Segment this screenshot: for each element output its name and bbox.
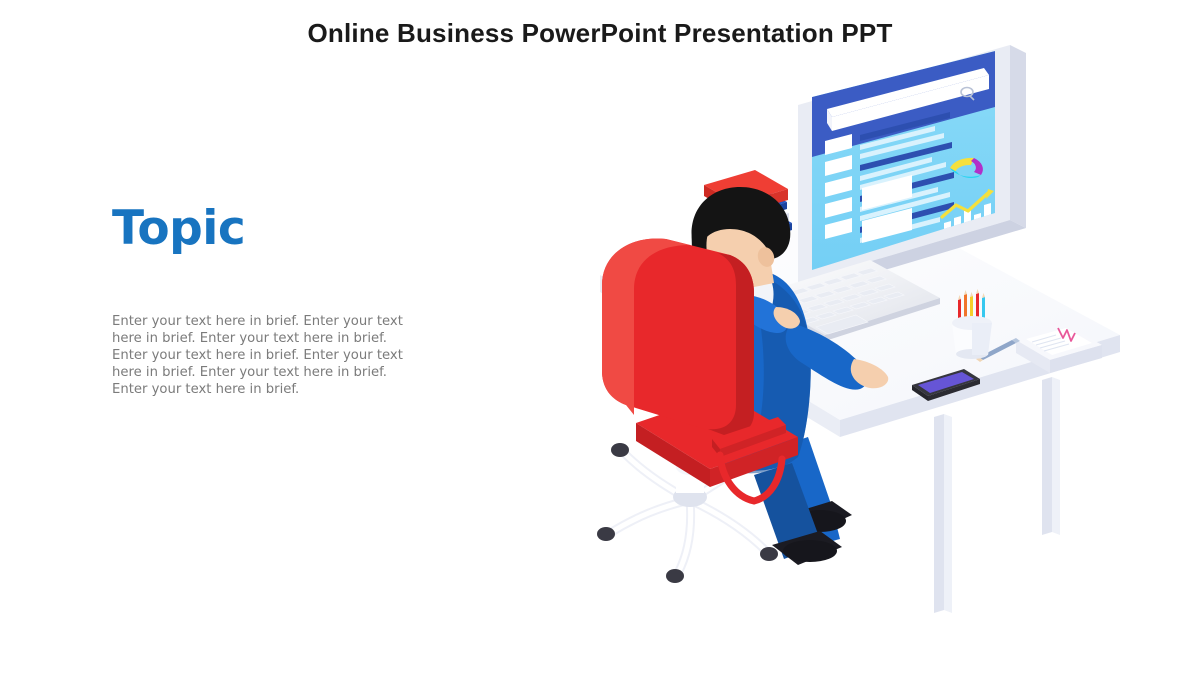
hero-illustration (540, 45, 1140, 645)
presentation-slide: Online Business PowerPoint Presentation … (0, 0, 1200, 675)
desk-legs (934, 377, 1060, 613)
topic-heading: Topic (112, 205, 422, 252)
body-paragraph: Enter your text here in brief. Enter you… (112, 314, 408, 398)
left-content-column: Topic Enter your text here in brief. Ent… (112, 205, 422, 398)
